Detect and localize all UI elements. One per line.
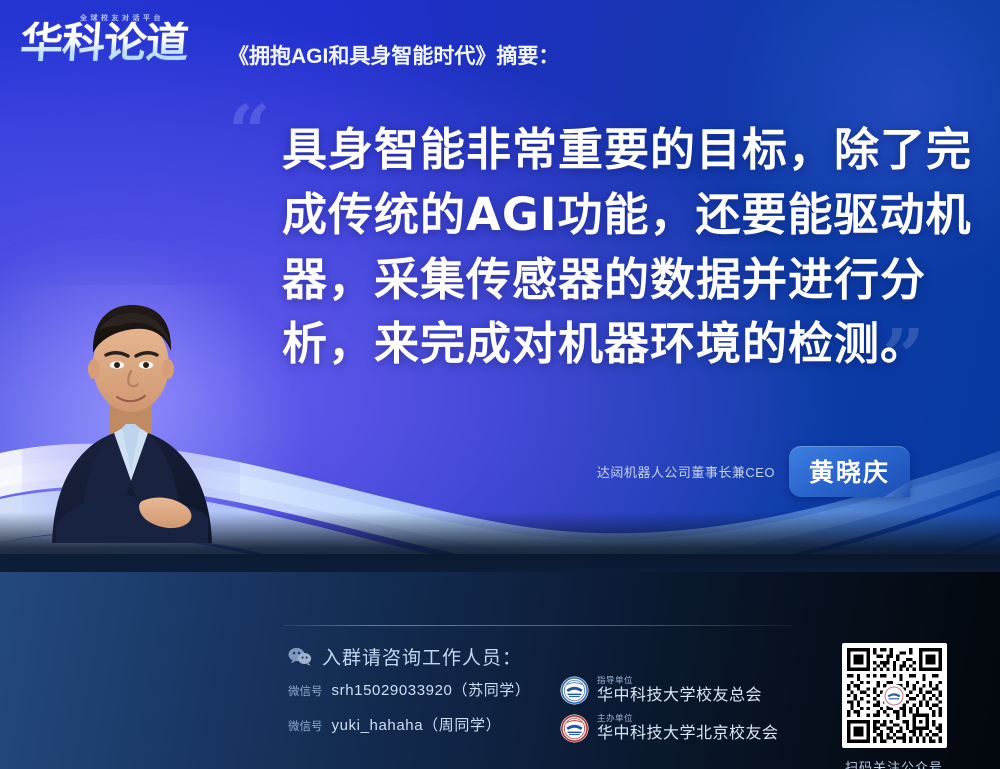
list-item: 微信号 srh15029033920（苏同学） bbox=[288, 679, 531, 714]
organization-kind: 主办单位 bbox=[597, 714, 779, 723]
organization-text: 主办单位 华中科技大学北京校友会 bbox=[597, 714, 779, 743]
hust-alumni-seal-blue-icon bbox=[560, 676, 589, 705]
hust-alumni-seal-red-icon bbox=[560, 714, 589, 743]
qr-block: 扫码关注公众号 bbox=[834, 643, 954, 769]
join-prompt-row: 入群请咨询工作人员： bbox=[288, 643, 522, 670]
organization-list: 指导单位 华中科技大学校友总会 主 bbox=[560, 671, 779, 747]
logo-wordmark: 华科论道 bbox=[19, 22, 189, 64]
speaker-portrait bbox=[22, 285, 240, 543]
quote-line: 成传统的AGI功能，还要能驱动机 bbox=[282, 183, 942, 248]
qr-center-logo bbox=[882, 684, 906, 708]
quote-line: 析，来完成对机器环境的检测。 bbox=[282, 312, 942, 377]
wechat-icon bbox=[288, 647, 312, 666]
page-title: 《拥抱AGI和具身智能时代》摘要： bbox=[228, 40, 559, 70]
organization-text: 指导单位 华中科技大学校友总会 bbox=[597, 676, 762, 705]
list-item: 主办单位 华中科技大学北京校友会 bbox=[560, 709, 779, 747]
footer: 入群请咨询工作人员： 微信号 srh15029033920（苏同学） 微信号 y… bbox=[0, 621, 1000, 769]
list-item: 指导单位 华中科技大学校友总会 bbox=[560, 671, 779, 709]
qr-caption: 扫码关注公众号 bbox=[834, 757, 954, 769]
contact-list: 微信号 srh15029033920（苏同学） 微信号 yuki_hahaha（… bbox=[288, 679, 531, 749]
attribution: 达闼机器人公司董事长兼CEO 黄晓庆 bbox=[597, 446, 910, 497]
poster-canvas: 全球校友对话平台 华科论道 《拥抱AGI和具身智能时代》摘要： “ 具身智能非常… bbox=[0, 0, 1000, 769]
speaker-role: 达闼机器人公司董事长兼CEO bbox=[597, 462, 775, 481]
contact-label: 微信号 bbox=[288, 718, 323, 734]
quote-text: 具身智能非常重要的目标，除了完 成传统的AGI功能，还要能驱动机 器，采集传感器… bbox=[282, 118, 942, 377]
join-prompt-label: 入群请咨询工作人员： bbox=[322, 643, 522, 670]
quote-line: 具身智能非常重要的目标，除了完 bbox=[282, 118, 942, 183]
footer-divider bbox=[283, 625, 793, 626]
organization-kind: 指导单位 bbox=[597, 676, 762, 685]
organization-name: 华中科技大学北京校友会 bbox=[597, 725, 779, 743]
qr-code-icon[interactable] bbox=[842, 643, 947, 748]
quote-line: 器，采集传感器的数据并进行分 bbox=[282, 248, 942, 313]
list-item: 微信号 yuki_hahaha（周同学） bbox=[288, 714, 531, 749]
contact-label: 微信号 bbox=[288, 683, 323, 699]
header: 全球校友对话平台 华科论道 《拥抱AGI和具身智能时代》摘要： bbox=[0, 0, 1000, 92]
brand-logo[interactable]: 全球校友对话平台 华科论道 bbox=[22, 8, 222, 78]
organization-name: 华中科技大学校友总会 bbox=[597, 687, 762, 705]
contact-value[interactable]: yuki_hahaha（周同学） bbox=[332, 714, 502, 735]
contact-value[interactable]: srh15029033920（苏同学） bbox=[332, 679, 531, 700]
speaker-name-badge: 黄晓庆 bbox=[789, 446, 910, 497]
